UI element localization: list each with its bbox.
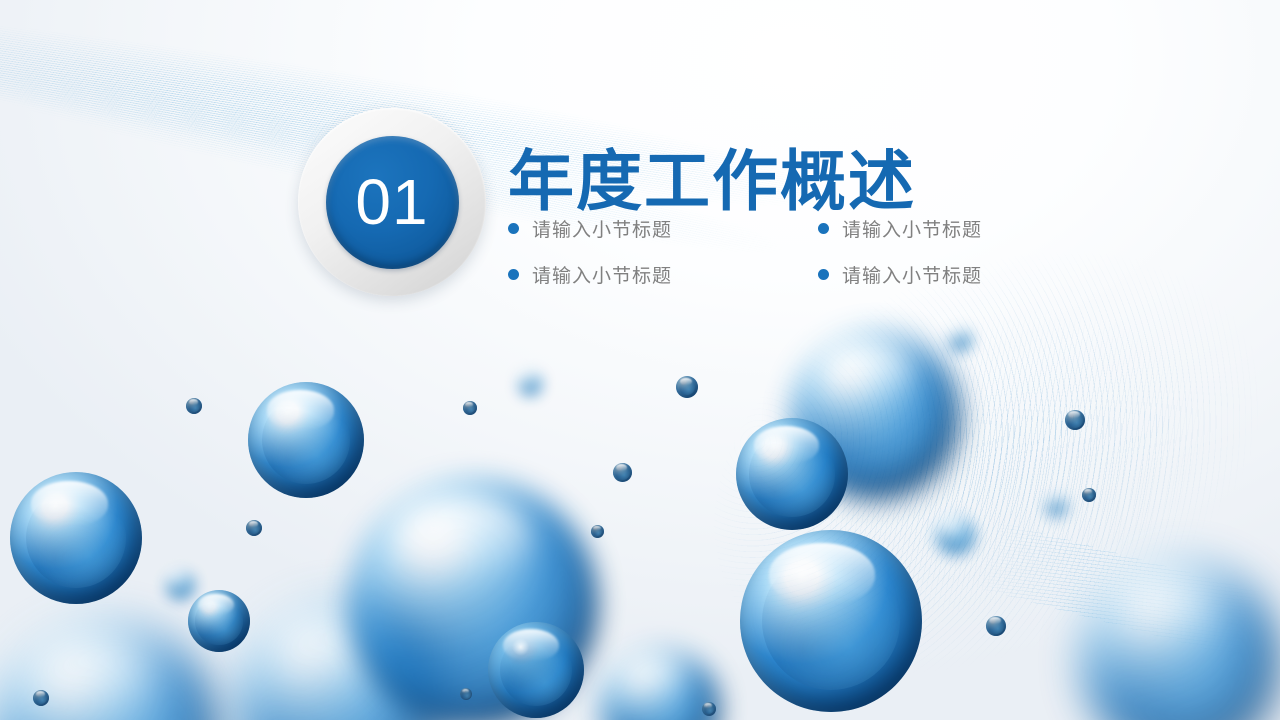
subtitle-bullet-list: 请输入小节标题 请输入小节标题 请输入小节标题 请输入小节标题 (508, 205, 1068, 297)
list-item-label: 请输入小节标题 (532, 215, 672, 242)
bullet-dot-icon (508, 269, 519, 280)
bullet-dot-icon (818, 269, 829, 280)
list-item[interactable]: 请输入小节标题 (508, 205, 818, 251)
list-item[interactable]: 请输入小节标题 (818, 205, 1068, 251)
list-item-label: 请输入小节标题 (842, 215, 982, 242)
bullet-dot-icon (818, 223, 829, 234)
presentation-slide: 01 年度工作概述 请输入小节标题 请输入小节标题 请输入小节标题 请输入小节标… (0, 0, 1280, 720)
bullet-dot-icon (508, 223, 519, 234)
list-item[interactable]: 请输入小节标题 (508, 251, 818, 297)
section-number-badge-inner: 01 (326, 136, 459, 269)
section-number-text: 01 (355, 170, 428, 234)
section-number-badge: 01 (298, 108, 486, 296)
list-item-label: 请输入小节标题 (532, 261, 672, 288)
list-item[interactable]: 请输入小节标题 (818, 251, 1068, 297)
list-item-label: 请输入小节标题 (842, 261, 982, 288)
slide-content: 01 年度工作概述 请输入小节标题 请输入小节标题 请输入小节标题 请输入小节标… (0, 0, 1280, 720)
